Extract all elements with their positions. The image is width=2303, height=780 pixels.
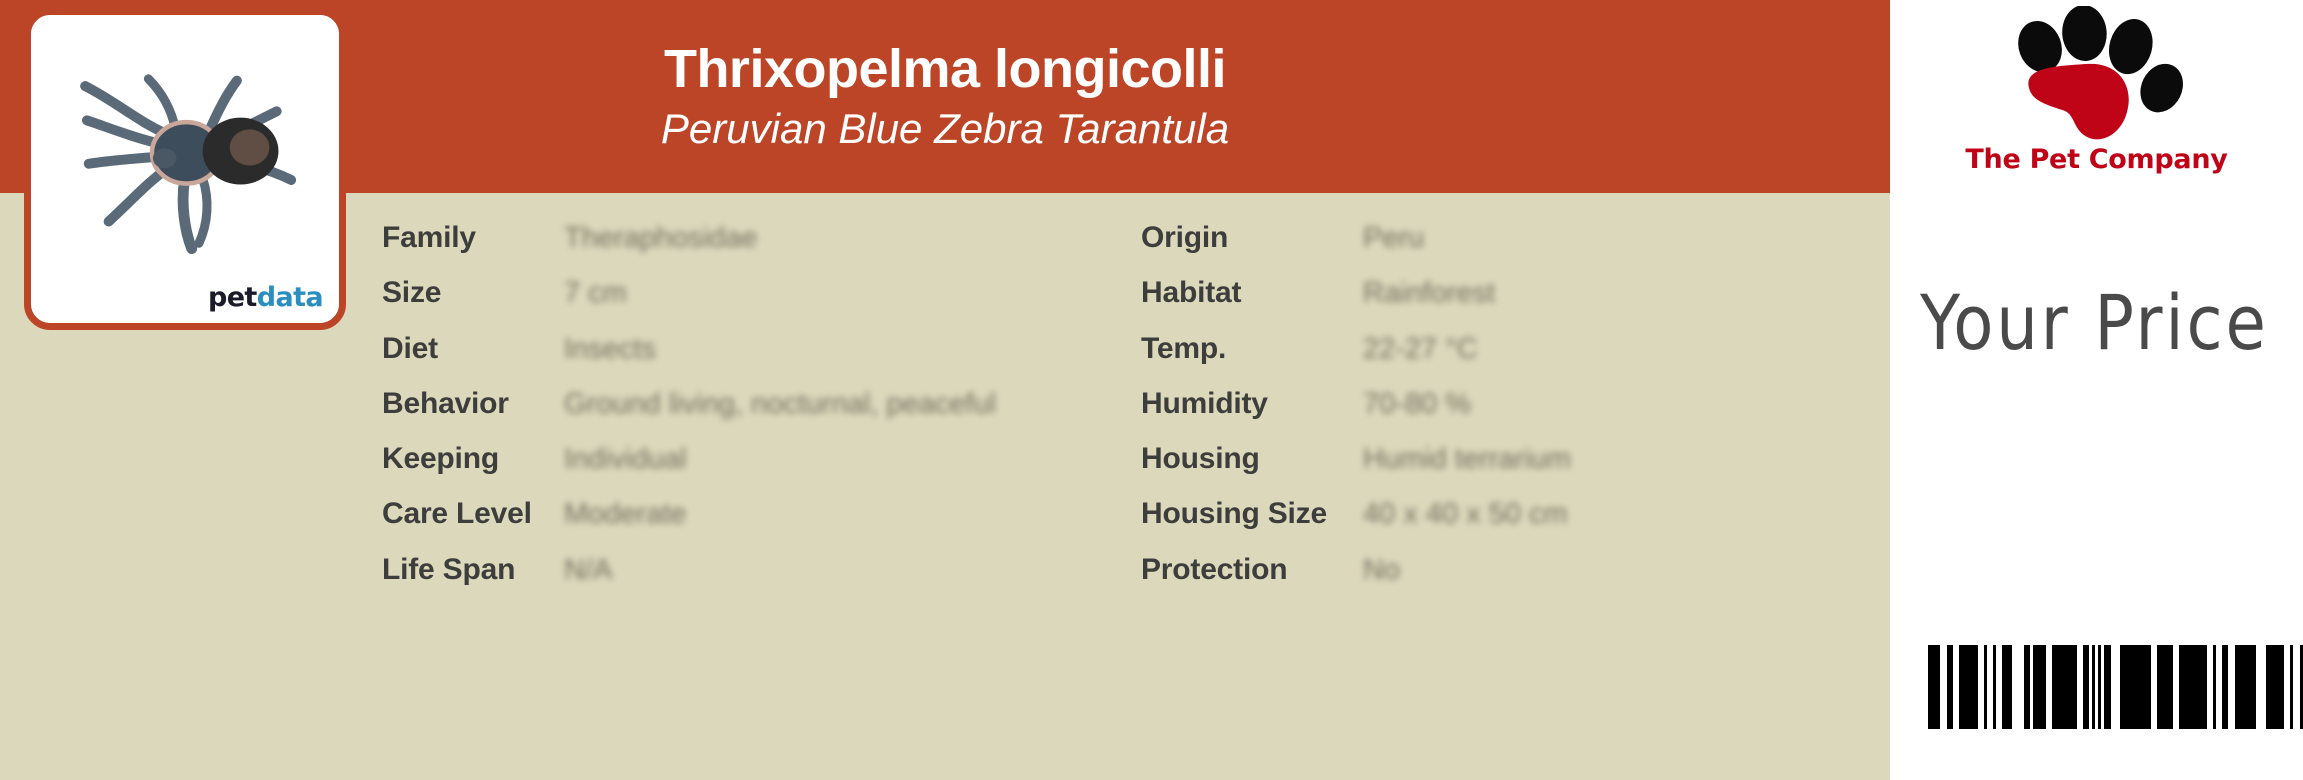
attribute-row: HousingHumid terrarium: [1141, 436, 1821, 482]
attribute-label: Diet: [382, 332, 564, 366]
attribute-value: Moderate: [564, 498, 687, 531]
barcode-bar: [2235, 645, 2257, 729]
attribute-value: 70-80 %: [1363, 388, 1471, 421]
attribute-grid: FamilyTheraphosidaeSize7 cmDietInsectsBe…: [0, 193, 1890, 780]
pet-species-label: Thrixopelma longicolli Peruvian Blue Zeb…: [0, 0, 2303, 780]
your-price-label: Your Price: [1920, 278, 2269, 367]
barcode-bar: [2033, 645, 2045, 729]
barcode-bar: [1928, 645, 1940, 729]
attribute-row: FamilyTheraphosidae: [382, 215, 1002, 261]
attribute-value: No: [1363, 554, 1400, 587]
attribute-label: Housing Size: [1141, 497, 1363, 531]
attribute-value: Rainforest: [1363, 277, 1495, 310]
attribute-value: Humid terrarium: [1363, 443, 1571, 476]
barcode: [1928, 645, 2303, 729]
attribute-value: Individual: [564, 443, 687, 476]
attribute-row: KeepingIndividual: [382, 436, 1002, 482]
barcode-bar: [2120, 645, 2151, 729]
attribute-label: Protection: [1141, 553, 1363, 587]
attribute-value: Theraphosidae: [564, 222, 757, 255]
header-title-block: Thrixopelma longicolli Peruvian Blue Zeb…: [330, 0, 1560, 193]
barcode-bar: [2052, 645, 2077, 729]
attribute-row: Size7 cm: [382, 270, 1002, 316]
barcode-bar: [2002, 645, 2011, 729]
barcode-space: [2111, 645, 2120, 729]
attribute-value: N/A: [564, 554, 612, 587]
attribute-row: BehaviorGround living, nocturnal, peacef…: [382, 381, 1002, 427]
attribute-row: Housing Size40 x 40 x 50 cm: [1141, 491, 1821, 537]
barcode-space: [2256, 645, 2265, 729]
attribute-row: Temp.22-27 °C: [1141, 326, 1821, 372]
attribute-value: 40 x 40 x 50 cm: [1363, 498, 1568, 531]
attribute-label: Behavior: [382, 387, 564, 421]
attribute-row: Life SpanN/A: [382, 547, 1002, 593]
attribute-value: 7 cm: [564, 277, 627, 310]
attribute-label: Housing: [1141, 442, 1363, 476]
attribute-label: Habitat: [1141, 276, 1363, 310]
attribute-value: Insects: [564, 333, 656, 366]
brand-logo: The Pet Company: [1947, 4, 2247, 194]
price-panel: The Pet Company Your Price: [1890, 0, 2303, 780]
attribute-row: Humidity70-80 %: [1141, 381, 1821, 427]
attribute-value: Peru: [1363, 222, 1424, 255]
barcode-space: [2012, 645, 2024, 729]
attribute-row: OriginPeru: [1141, 215, 1821, 261]
attribute-column-right: OriginPeruHabitatRainforestTemp.22-27 °C…: [1141, 193, 1821, 780]
attribute-row: Care LevelModerate: [382, 491, 1002, 537]
attribute-value: 22-27 °C: [1363, 333, 1478, 366]
attribute-label: Temp.: [1141, 332, 1363, 366]
attribute-label: Family: [382, 221, 564, 255]
attribute-label: Origin: [1141, 221, 1363, 255]
attribute-label: Humidity: [1141, 387, 1363, 421]
attribute-row: DietInsects: [382, 326, 1002, 372]
paw-print-icon: [1994, 6, 2199, 146]
attribute-column-left: FamilyTheraphosidaeSize7 cmDietInsectsBe…: [382, 193, 1002, 780]
brand-name: The Pet Company: [1947, 144, 2247, 175]
barcode-bar: [1959, 645, 1978, 729]
attribute-row: ProtectionNo: [1141, 547, 1821, 593]
attribute-value: Ground living, nocturnal, peaceful: [564, 388, 996, 421]
common-name: Peruvian Blue Zebra Tarantula: [661, 104, 1229, 154]
attribute-label: Life Span: [382, 553, 564, 587]
barcode-bar: [2179, 645, 2207, 729]
barcode-bar: [2266, 645, 2285, 729]
species-name: Thrixopelma longicolli: [664, 40, 1226, 98]
attribute-label: Care Level: [382, 497, 564, 531]
attribute-row: HabitatRainforest: [1141, 270, 1821, 316]
attribute-label: Keeping: [382, 442, 564, 476]
info-panel: Thrixopelma longicolli Peruvian Blue Zeb…: [0, 0, 1890, 780]
barcode-bar: [2300, 645, 2303, 729]
barcode-bar: [2157, 645, 2173, 729]
attribute-label: Size: [382, 276, 564, 310]
